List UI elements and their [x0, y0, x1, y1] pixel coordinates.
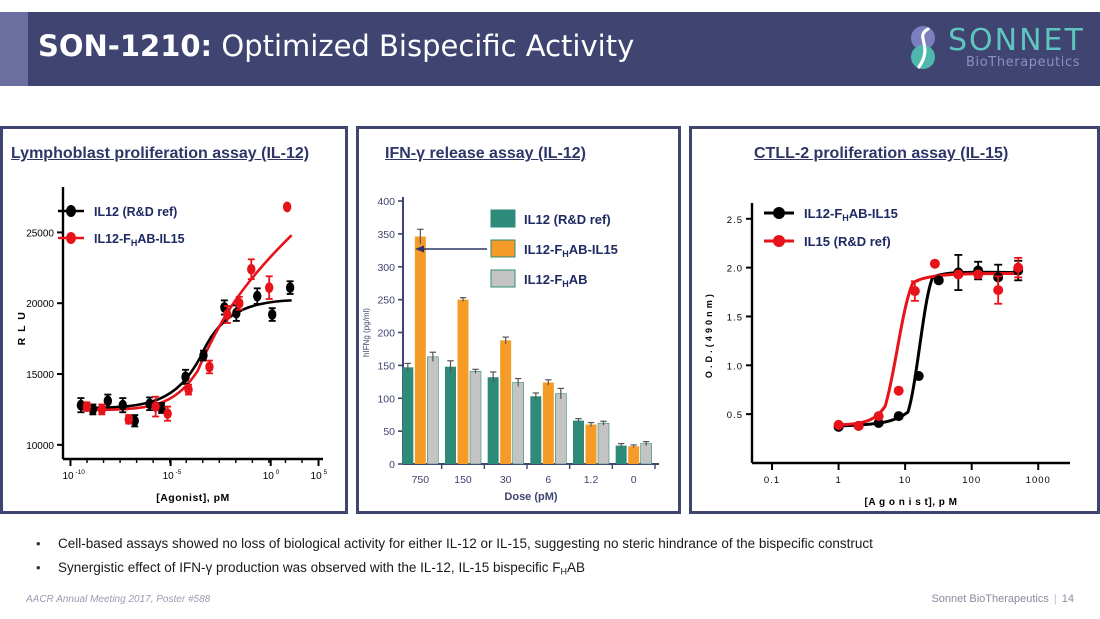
svg-text:400: 400: [377, 196, 395, 208]
chart-ifng: 050100150200250300350400hIFNg (pg/ml)750…: [359, 129, 678, 511]
chart-legend: IL12 (R&D ref)IL12-FHAB-IL15IL12-FHAB: [415, 210, 618, 289]
svg-text:50: 50: [383, 426, 395, 438]
svg-text:R L U: R L U: [16, 311, 28, 346]
svg-text:25000: 25000: [26, 228, 54, 239]
svg-text:0.5: 0.5: [727, 410, 743, 421]
svg-text:Dose (pM): Dose (pM): [504, 491, 558, 503]
svg-text:0.1: 0.1: [764, 475, 780, 486]
chart-bars-group: [402, 229, 651, 464]
svg-text:30: 30: [500, 474, 512, 486]
bullet-text: Cell-based assays showed no loss of biol…: [58, 534, 873, 553]
bullet-marker: •: [36, 558, 58, 577]
sonnet-logo-mark-icon: [904, 25, 944, 71]
svg-text:150: 150: [454, 474, 472, 486]
svg-text:IL12-FHAB-IL15: IL12-FHAB-IL15: [94, 232, 185, 248]
svg-text:10: 10: [263, 471, 275, 482]
svg-text:10: 10: [899, 475, 912, 486]
svg-text:1: 1: [835, 475, 841, 486]
svg-text:1000: 1000: [1026, 475, 1051, 486]
svg-text:200: 200: [377, 328, 395, 340]
svg-text:0: 0: [276, 469, 280, 476]
logo-tagline: BioTherapeutics: [966, 55, 1080, 70]
svg-text:100: 100: [377, 393, 395, 405]
footer-company: Sonnet BioTherapeutics: [931, 593, 1048, 605]
svg-text:15000: 15000: [26, 370, 54, 381]
svg-text:10: 10: [311, 471, 323, 482]
bullet-text-post: AB: [567, 560, 585, 575]
chart-lymphoblast: 1000015000200002500010-1010-5100105[Agon…: [3, 129, 345, 511]
svg-text:IL12-FHAB-IL15: IL12-FHAB-IL15: [804, 206, 898, 223]
svg-text:[A g o n i s t], p M: [A g o n i s t], p M: [865, 497, 958, 508]
svg-text:hIFNg (pg/ml): hIFNg (pg/ml): [362, 308, 371, 357]
svg-text:-5: -5: [176, 469, 182, 476]
footer-company-page: Sonnet BioTherapeutics|14: [931, 593, 1074, 605]
svg-text:IL12 (R&D ref): IL12 (R&D ref): [524, 212, 611, 227]
chart-legend: IL12 (R&D ref)IL12-FHAB-IL15: [58, 205, 185, 248]
chart-ctll2-svg: 0.51.01.52.02.50.11101001000[A g o n i s…: [692, 129, 1097, 511]
svg-text:1.2: 1.2: [584, 474, 599, 486]
svg-text:2.0: 2.0: [727, 264, 743, 275]
svg-text:20000: 20000: [26, 299, 54, 310]
list-item: • Cell-based assays showed no loss of bi…: [36, 534, 1076, 553]
svg-text:150: 150: [377, 360, 395, 372]
page-title-bold: SON-1210:: [38, 29, 212, 63]
svg-text:-10: -10: [75, 469, 85, 476]
svg-text:IL12-FHAB-IL15: IL12-FHAB-IL15: [524, 242, 618, 259]
svg-text:0: 0: [389, 459, 395, 471]
list-item: • Synergistic effect of IFN-γ production…: [36, 558, 1076, 581]
page-title-light: Optimized Bispecific Activity: [212, 29, 634, 63]
svg-text:300: 300: [377, 262, 395, 274]
header-accent-strip: [0, 12, 28, 86]
svg-text:10: 10: [62, 471, 74, 482]
svg-text:O . D . ( 4 9 0 n m ): O . D . ( 4 9 0 n m ): [704, 294, 714, 378]
chart-ctll2: 0.51.01.52.02.50.11101001000[A g o n i s…: [692, 129, 1097, 511]
svg-text:[Agonist], pM: [Agonist], pM: [156, 492, 230, 504]
svg-text:10: 10: [163, 471, 175, 482]
svg-text:5: 5: [324, 469, 328, 476]
bullet-marker: •: [36, 534, 58, 553]
svg-text:350: 350: [377, 229, 395, 241]
panel-ifng-release-assay: IFN-γ release assay (IL-12) 050100150200…: [356, 126, 681, 514]
svg-text:0: 0: [631, 474, 637, 486]
svg-text:100: 100: [962, 475, 981, 486]
footer-conference-note: AACR Annual Meeting 2017, Poster #588: [26, 594, 210, 605]
logo-wordmark: SONNET: [948, 23, 1085, 58]
sonnet-logo: SONNET BioTherapeutics: [904, 22, 1074, 78]
svg-text:1.5: 1.5: [727, 312, 743, 323]
bullet-list: • Cell-based assays showed no loss of bi…: [36, 534, 1076, 586]
chart-legend: IL12-FHAB-IL15IL15 (R&D ref): [764, 206, 898, 249]
page-title: SON-1210: Optimized Bispecific Activity: [38, 29, 634, 63]
svg-text:IL15 (R&D ref): IL15 (R&D ref): [804, 234, 891, 249]
chart-series-group: [834, 255, 1024, 432]
svg-text:750: 750: [412, 474, 430, 486]
svg-text:1.0: 1.0: [727, 361, 743, 372]
chart-axes: 1000015000200002500010-1010-5100105[Agon…: [16, 129, 328, 504]
svg-text:250: 250: [377, 295, 395, 307]
bullet-text-pre: Synergistic effect of IFN-γ production w…: [58, 560, 560, 575]
panel-lymphoblast-assay: Lymphoblast proliferation assay (IL-12) …: [0, 126, 348, 514]
svg-text:10000: 10000: [26, 441, 54, 452]
panel-ctll2-assay: CTLL-2 proliferation assay (IL-15) 0.51.…: [689, 126, 1100, 514]
chart-ifng-svg: 050100150200250300350400hIFNg (pg/ml)750…: [359, 129, 678, 511]
svg-text:IL12-FHAB: IL12-FHAB: [524, 272, 588, 289]
bullet-text: Synergistic effect of IFN-γ production w…: [58, 558, 585, 581]
footer-page-number: 14: [1062, 593, 1074, 605]
svg-text:2.5: 2.5: [727, 215, 743, 226]
chart-lymphoblast-svg: 1000015000200002500010-1010-5100105[Agon…: [3, 129, 345, 511]
svg-text:6: 6: [545, 474, 551, 486]
footer-separator: |: [1054, 593, 1057, 605]
svg-text:IL12 (R&D ref): IL12 (R&D ref): [94, 205, 177, 219]
